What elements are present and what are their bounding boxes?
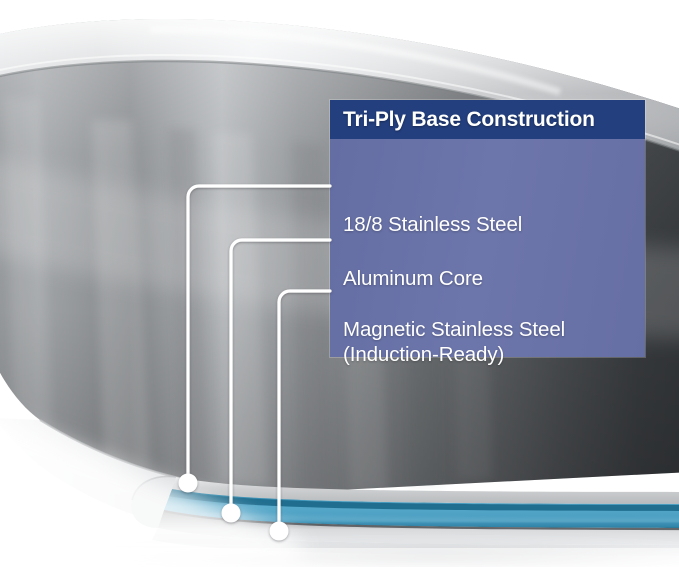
tri-ply-callout-panel: Tri-Ply Base Construction 18/8 Stainless… (330, 100, 645, 357)
callout-header: Tri-Ply Base Construction (330, 100, 645, 139)
callout-body: 18/8 Stainless Steel Aluminum Core Magne… (330, 139, 645, 357)
infographic-canvas: Tri-Ply Base Construction 18/8 Stainless… (0, 0, 679, 567)
layer-label-magnetic-stainless: Magnetic Stainless Steel (Induction-Read… (343, 317, 565, 367)
layer-label-aluminum-core: Aluminum Core (343, 266, 483, 291)
layer-label-stainless-18-8: 18/8 Stainless Steel (343, 212, 522, 237)
callout-title: Tri-Ply Base Construction (330, 108, 595, 132)
